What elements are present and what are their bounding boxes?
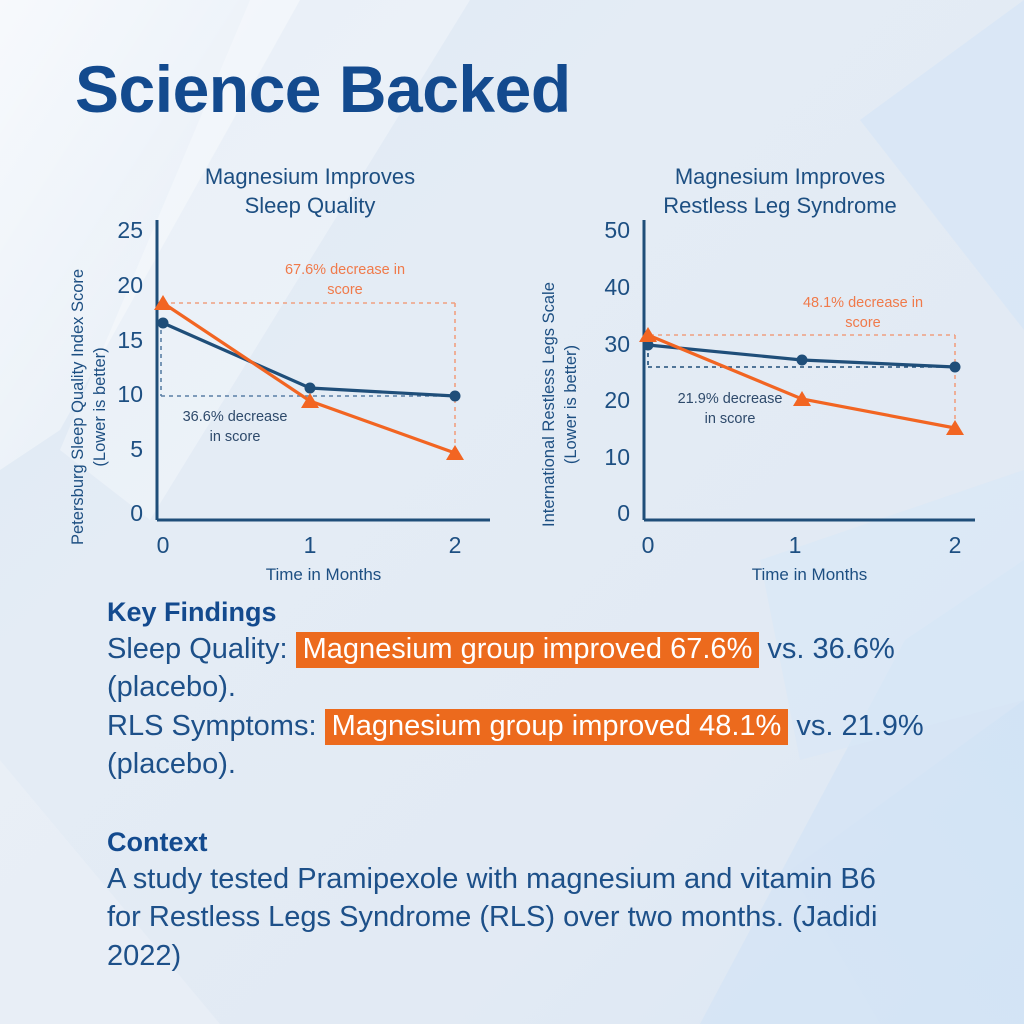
- plot-area-sleep: 25 20 15 10 5 0 0 1 2: [45, 155, 515, 585]
- key-findings-section: Key Findings Sleep Quality: Magnesium gr…: [107, 596, 1024, 784]
- chart-rls: Magnesium Improves Restless Leg Syndrome…: [520, 155, 1000, 585]
- series-point-placebo-sleep-m1: [305, 383, 316, 394]
- ytick-rls-1: 40: [604, 274, 630, 300]
- key-findings-heading: Key Findings: [107, 596, 1024, 630]
- ytick-rls-0: 50: [604, 217, 630, 243]
- key-findings-sleep: Sleep Quality: Magnesium group improved …: [107, 630, 1024, 707]
- series-point-placebo-sleep-m0: [158, 318, 169, 329]
- annotation-blue-sleep-line2: in score: [210, 429, 261, 445]
- xtick-sleep-0: 0: [157, 532, 170, 558]
- plot-area-rls: 50 40 30 20 10 0 0 1 2: [520, 155, 1000, 585]
- page-title: Science Backed: [75, 56, 571, 122]
- ytick-sleep-0: 25: [117, 217, 143, 243]
- annotation-orange-rls-line1: 48.1% decrease in: [803, 295, 923, 311]
- xtick-rls-2: 2: [949, 532, 962, 558]
- xtick-sleep-2: 2: [449, 532, 462, 558]
- ytick-sleep-2: 15: [117, 327, 143, 353]
- ytick-sleep-3: 10: [117, 381, 143, 407]
- key-findings-rls: RLS Symptoms: Magnesium group improved 4…: [107, 707, 1024, 784]
- annotation-orange-sleep-line1: 67.6% decrease in: [285, 262, 405, 278]
- context-section: Context A study tested Pramipexole with …: [107, 826, 897, 975]
- ytick-rls-5: 0: [617, 500, 630, 526]
- xtick-rls-0: 0: [642, 532, 655, 558]
- ytick-rls-3: 20: [604, 387, 630, 413]
- ytick-sleep-5: 0: [130, 500, 143, 526]
- context-heading: Context: [107, 826, 897, 860]
- chart-sleep-quality: Magnesium Improves Sleep Quality Petersb…: [45, 155, 515, 585]
- ytick-rls-2: 30: [604, 331, 630, 357]
- annotation-blue-rls-line2: in score: [705, 411, 756, 427]
- series-point-placebo-rls-m2: [950, 362, 961, 373]
- ytick-rls-4: 10: [604, 444, 630, 470]
- x-axis-label-sleep: Time in Months: [157, 565, 490, 585]
- key-findings-rls-prefix: RLS Symptoms:: [107, 710, 325, 742]
- key-findings-sleep-highlight: Magnesium group improved 67.6%: [296, 632, 760, 668]
- series-point-magnesium-sleep-m2: [446, 445, 464, 460]
- ytick-sleep-1: 20: [117, 272, 143, 298]
- annotation-orange-sleep-line2: score: [327, 282, 362, 298]
- key-findings-sleep-prefix: Sleep Quality:: [107, 633, 296, 665]
- ytick-sleep-4: 5: [130, 436, 143, 462]
- series-point-magnesium-rls-m0: [639, 327, 657, 342]
- series-point-placebo-sleep-m2: [450, 391, 461, 402]
- series-point-placebo-rls-m1: [797, 355, 808, 366]
- key-findings-rls-highlight: Magnesium group improved 48.1%: [325, 709, 789, 745]
- annotation-orange-rls-line2: score: [845, 315, 880, 331]
- annotation-blue-rls-line1: 21.9% decrease: [678, 391, 783, 407]
- series-line-magnesium-sleep: [163, 303, 455, 453]
- xtick-sleep-1: 1: [304, 532, 317, 558]
- series-point-magnesium-rls-m1: [793, 391, 811, 406]
- annotation-blue-sleep-line1: 36.6% decrease: [183, 409, 288, 425]
- xtick-rls-1: 1: [789, 532, 802, 558]
- context-body: A study tested Pramipexole with magnesiu…: [107, 860, 897, 976]
- x-axis-label-rls: Time in Months: [644, 565, 975, 585]
